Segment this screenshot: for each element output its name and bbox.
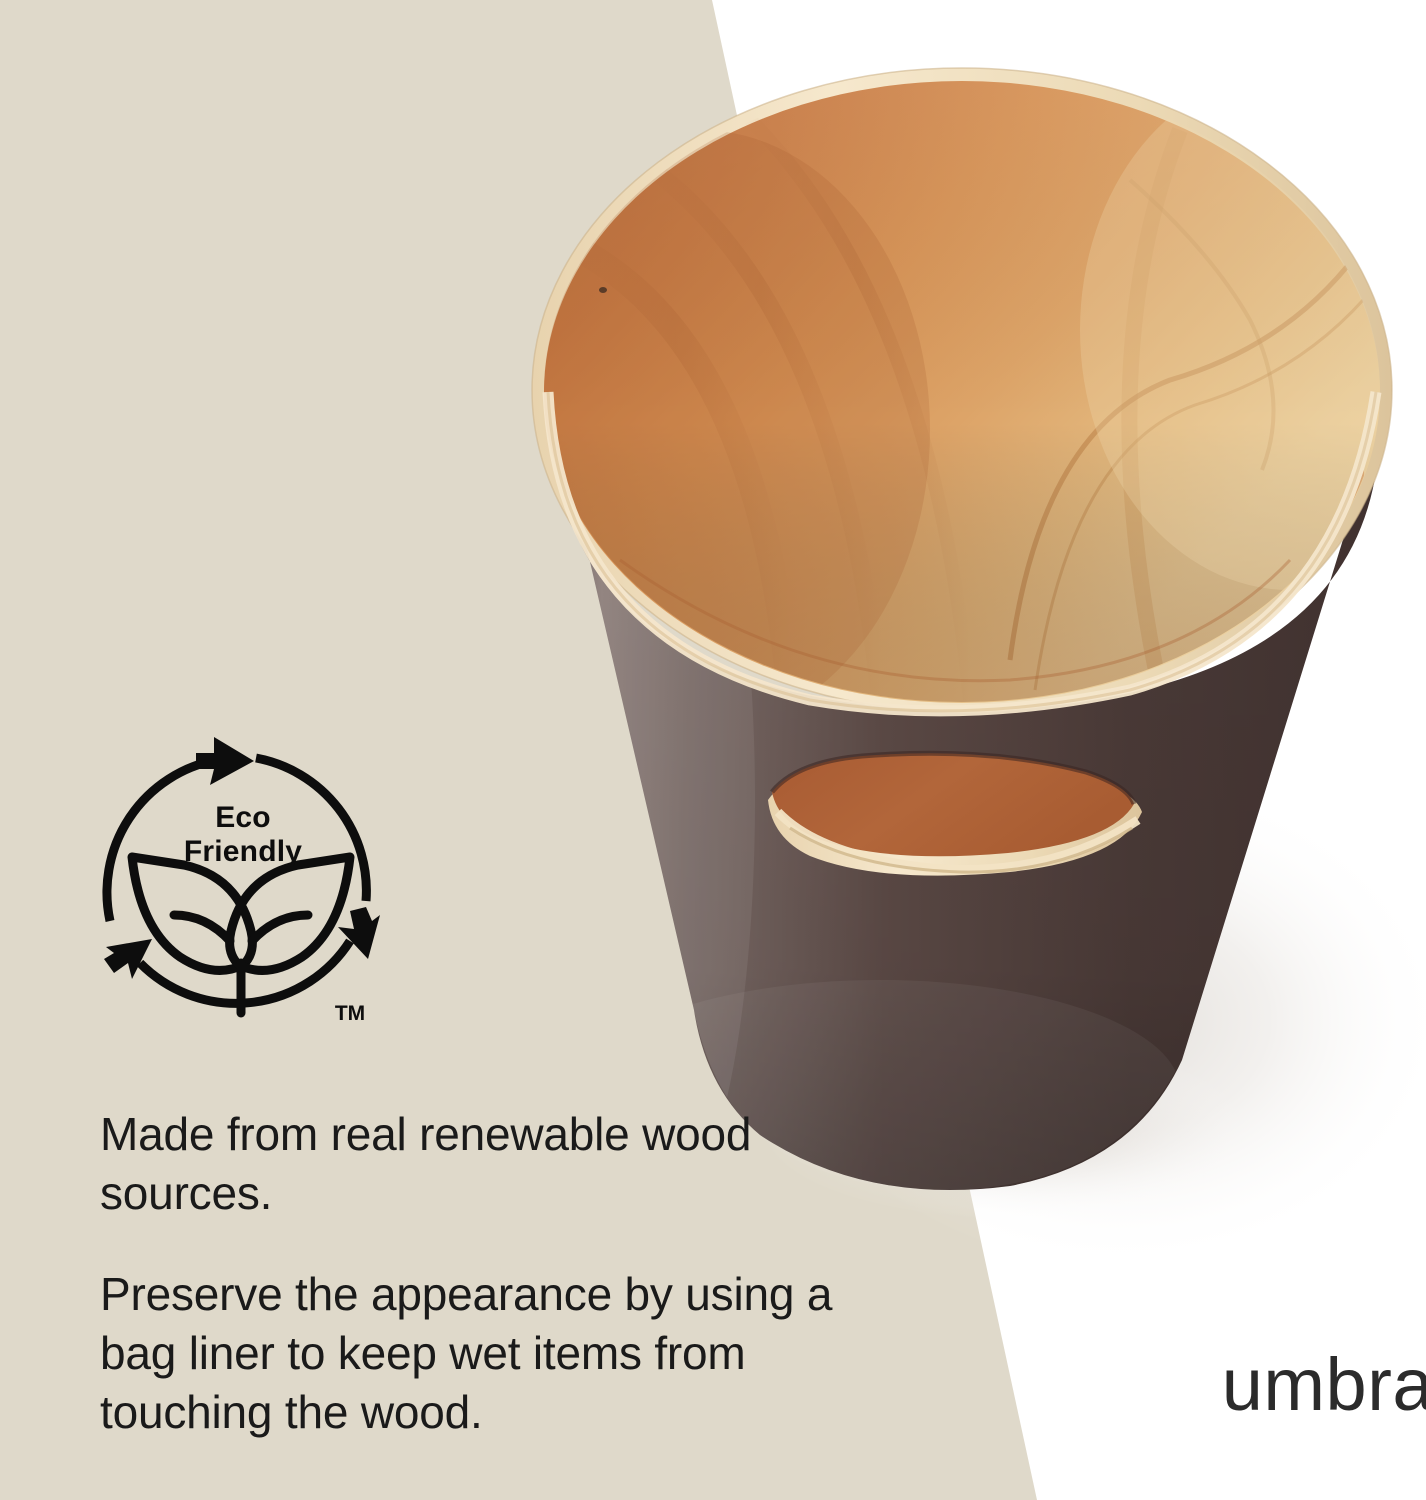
eco-badge-line2: Friendly	[184, 835, 302, 868]
eco-friendly-icon: Eco Friendly TM	[88, 725, 398, 1035]
eco-friendly-badge: Eco Friendly TM	[88, 725, 398, 1035]
eco-badge-trademark: TM	[335, 1002, 365, 1025]
leaf-pair-icon	[132, 857, 350, 1013]
marketing-copy: Made from real renewable wood sources. P…	[100, 1105, 890, 1441]
eco-badge-line1: Eco	[215, 801, 271, 834]
product-marketing-image: Eco Friendly TM Made from real renewable…	[0, 0, 1426, 1500]
copy-paragraph-1: Made from real renewable wood sources.	[100, 1105, 890, 1223]
copy-paragraph-2: Preserve the appearance by using a bag l…	[100, 1265, 890, 1442]
brand-logo-umbra: umbra	[1222, 1348, 1426, 1422]
